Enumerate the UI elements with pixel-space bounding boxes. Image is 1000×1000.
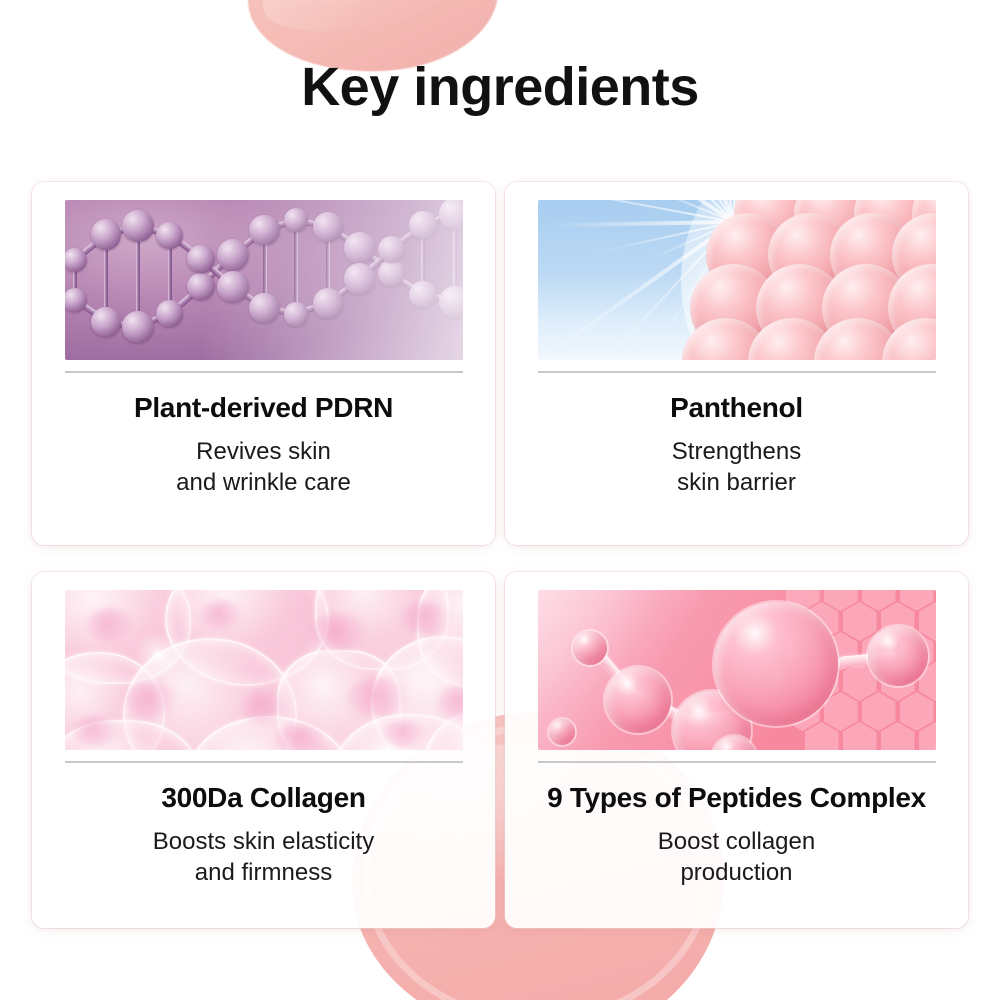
ingredient-description: Strengthens skin barrier: [672, 436, 801, 499]
card-divider: [65, 371, 463, 373]
ingredient-card-300da-collagen[interactable]: 300Da Collagen Boosts skin elasticity an…: [32, 572, 495, 928]
card-divider: [538, 761, 936, 763]
ingredient-title: Plant-derived PDRN: [134, 393, 393, 424]
ingredient-description-line2: skin barrier: [672, 467, 801, 499]
ingredient-description-line1: Boosts skin elasticity: [153, 828, 374, 855]
ingredient-card-plant-derived-pdrn[interactable]: Plant-derived PDRN Revives skin and wrin…: [32, 182, 495, 545]
ingredient-card-9-types-of-peptides-complex[interactable]: 9 Types of Peptides Complex Boost collag…: [505, 572, 968, 928]
ingredient-title: 9 Types of Peptides Complex: [547, 783, 926, 814]
ingredient-title: 300Da Collagen: [161, 783, 365, 814]
ingredient-description: Boost collagen production: [658, 826, 815, 889]
ingredient-card-panthenol[interactable]: Panthenol Strengthens skin barrier: [505, 182, 968, 545]
skin-cells-sunlight-image: [538, 200, 936, 360]
ingredient-title: Panthenol: [670, 393, 803, 424]
ingredient-card-grid: Plant-derived PDRN Revives skin and wrin…: [32, 182, 968, 928]
ingredient-description-line2: and firmness: [153, 857, 374, 889]
dna-helix-image: [65, 200, 463, 360]
ingredient-description-line1: Strengthens: [672, 438, 801, 465]
ingredient-description: Boosts skin elasticity and firmness: [153, 826, 374, 889]
ingredient-description-line2: production: [658, 857, 815, 889]
collagen-cells-image: [65, 590, 463, 750]
ingredient-description-line2: and wrinkle care: [176, 467, 351, 499]
card-divider: [538, 371, 936, 373]
ingredient-description: Revives skin and wrinkle care: [176, 436, 351, 499]
page-title: Key ingredients: [0, 56, 1000, 118]
peptide-molecules-image: [538, 590, 936, 750]
ingredient-description-line1: Boost collagen: [658, 828, 815, 855]
card-divider: [65, 761, 463, 763]
ingredient-description-line1: Revives skin: [196, 438, 331, 465]
